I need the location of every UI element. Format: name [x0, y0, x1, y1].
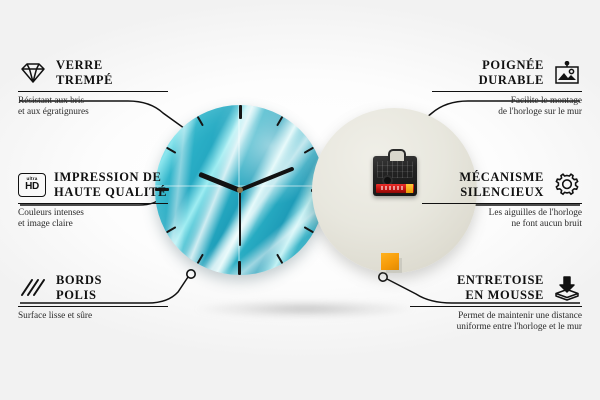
foam-spacer-icon — [552, 275, 582, 301]
feature-divider — [18, 203, 168, 204]
feature-description: Permet de maintenir une distance uniform… — [410, 311, 582, 334]
feature-desc-line2: uniforme entre l'horloge et le mur — [410, 322, 582, 333]
feature-desc-line2: ne font aucun bruit — [422, 219, 582, 230]
feature-desc-line2: et image claire — [18, 219, 168, 230]
feature-description: Couleurs intenses et image claire — [18, 208, 168, 231]
feature-impression-haute-qualite: ultra HD IMPRESSION DE HAUTE QUALITÉ Cou… — [18, 170, 168, 231]
feature-title-line2: POLIS — [56, 288, 102, 303]
feature-description: Résistant aux bris et aux égratignures — [18, 96, 168, 119]
feature-title-line1: MÉCANISME — [459, 170, 544, 185]
feature-title: IMPRESSION DE HAUTE QUALITÉ — [54, 170, 167, 199]
polished-edges-icon — [18, 276, 48, 300]
infographic-canvas: VERRE TREMPÉ Résistant aux bris et aux é… — [0, 0, 600, 400]
feature-description: Facilite le montage de l'horloge sur le … — [432, 96, 582, 119]
ultra-hd-icon-main-text: HD — [25, 182, 39, 192]
feature-title-line2: DURABLE — [479, 73, 544, 88]
feature-divider — [432, 91, 582, 92]
feature-desc-line1: Facilite le montage — [432, 96, 582, 107]
battery — [376, 184, 414, 193]
feature-verre-trempe: VERRE TREMPÉ Résistant aux bris et aux é… — [18, 58, 168, 119]
clock-mechanism — [373, 156, 417, 196]
feature-header: BORDS POLIS — [18, 273, 168, 302]
feature-header: ultra HD IMPRESSION DE HAUTE QUALITÉ — [18, 170, 168, 199]
diamond-icon — [18, 61, 48, 85]
feature-title-line1: IMPRESSION DE — [54, 170, 167, 185]
ultra-hd-icon: ultra HD — [18, 173, 46, 197]
feature-desc-line1: Les aiguilles de l'horloge — [422, 208, 582, 219]
picture-hanger-icon — [552, 61, 582, 85]
feature-header: POIGNÉE DURABLE — [432, 58, 582, 87]
feature-header: MÉCANISME SILENCIEUX — [422, 170, 582, 199]
feature-divider — [18, 306, 168, 307]
mechanism-housing — [377, 161, 413, 178]
feature-poignee-durable: POIGNÉE DURABLE Facilite le montage de l… — [432, 58, 582, 119]
wall-clock-front — [155, 105, 325, 275]
feature-desc-line1: Résistant aux bris — [18, 96, 168, 107]
feature-entretoise-en-mousse: ENTRETOISE EN MOUSSE Permet de maintenir… — [410, 273, 582, 334]
feature-title-line1: BORDS — [56, 273, 102, 288]
feature-divider — [422, 203, 582, 204]
feature-header: VERRE TREMPÉ — [18, 58, 168, 87]
foam-spacer — [381, 253, 399, 270]
feature-title: POIGNÉE DURABLE — [479, 58, 544, 87]
feature-desc-line1: Surface lisse et sûre — [18, 311, 168, 322]
clock-second-hand — [239, 190, 241, 246]
clock-center-hub — [237, 187, 243, 193]
feature-title: VERRE TREMPÉ — [56, 58, 113, 87]
endpoint-entretoise — [379, 273, 387, 281]
feature-description: Surface lisse et sûre — [18, 311, 168, 322]
feature-title-line2: EN MOUSSE — [457, 288, 544, 303]
feature-title: BORDS POLIS — [56, 273, 102, 302]
feature-bords-polis: BORDS POLIS Surface lisse et sûre — [18, 273, 168, 322]
feature-desc-line1: Permet de maintenir une distance — [410, 311, 582, 322]
feature-desc-line2: de l'horloge sur le mur — [432, 107, 582, 118]
battery-positive-terminal — [406, 184, 413, 193]
feature-title: MÉCANISME SILENCIEUX — [459, 170, 544, 199]
feature-divider — [410, 306, 582, 307]
feature-header: ENTRETOISE EN MOUSSE — [410, 273, 582, 302]
feature-title-line1: POIGNÉE — [479, 58, 544, 73]
hanging-hook-icon — [388, 149, 406, 161]
feature-description: Les aiguilles de l'horloge ne font aucun… — [422, 208, 582, 231]
feature-divider — [18, 91, 168, 92]
battery-label — [381, 186, 403, 190]
gear-icon — [552, 172, 582, 198]
feature-title-line2: TREMPÉ — [56, 73, 113, 88]
feature-title-line2: HAUTE QUALITÉ — [54, 185, 167, 200]
feature-title-line1: VERRE — [56, 58, 113, 73]
feature-desc-line1: Couleurs intenses — [18, 208, 168, 219]
feature-title-line2: SILENCIEUX — [459, 185, 544, 200]
feature-title-line1: ENTRETOISE — [457, 273, 544, 288]
feature-desc-line2: et aux égratignures — [18, 107, 168, 118]
feature-mecanisme-silencieux: MÉCANISME SILENCIEUX Les aiguilles de l'… — [422, 170, 582, 231]
feature-title: ENTRETOISE EN MOUSSE — [457, 273, 544, 302]
